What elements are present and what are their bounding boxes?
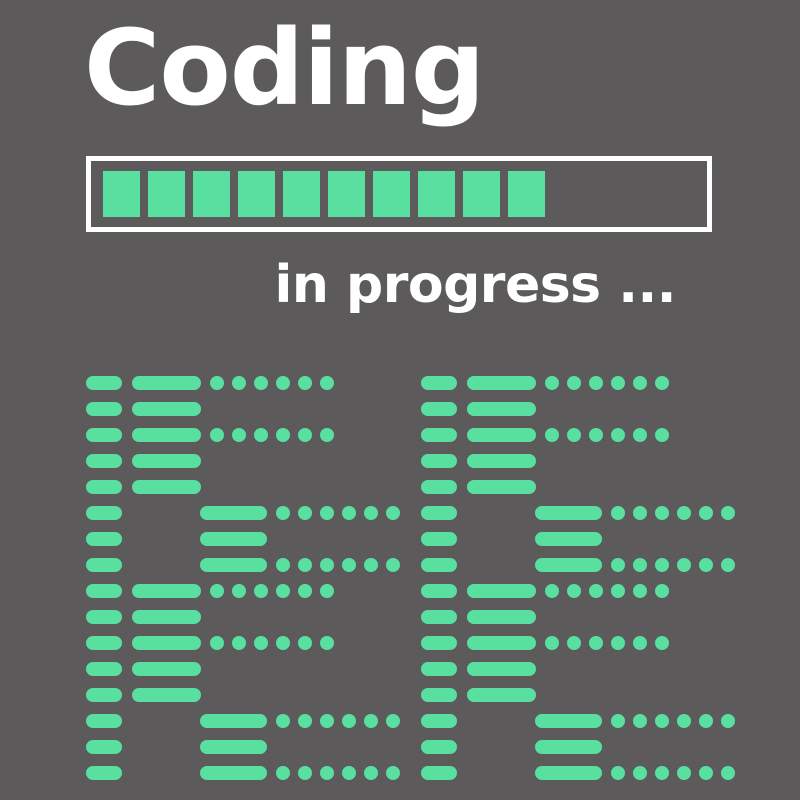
code-token-keyword	[421, 740, 457, 754]
code-dot	[232, 584, 246, 598]
code-dot	[633, 584, 647, 598]
code-token-dots	[276, 714, 400, 728]
code-token-body	[467, 636, 536, 650]
code-dot	[276, 766, 290, 780]
code-dot	[567, 428, 581, 442]
code-dot	[320, 506, 334, 520]
code-dot	[545, 636, 559, 650]
code-token-keyword	[86, 454, 122, 468]
code-dot	[298, 584, 312, 598]
code-dot	[611, 376, 625, 390]
code-dot	[633, 428, 647, 442]
code-dot	[320, 714, 334, 728]
code-dot	[633, 636, 647, 650]
code-token-body	[467, 610, 536, 624]
code-dot	[589, 584, 603, 598]
code-token-keyword	[421, 506, 457, 520]
code-token-body	[467, 584, 536, 598]
code-dot	[721, 558, 735, 572]
code-dot	[655, 506, 669, 520]
code-dot	[342, 714, 356, 728]
code-dot	[254, 584, 268, 598]
code-token-keyword	[86, 402, 122, 416]
code-token-keyword	[421, 454, 457, 468]
code-token-body	[200, 740, 267, 754]
code-token-keyword	[86, 688, 122, 702]
code-dot	[611, 428, 625, 442]
code-dot	[721, 766, 735, 780]
code-token-body	[132, 610, 201, 624]
code-dot	[699, 714, 713, 728]
code-dot	[320, 584, 334, 598]
code-token-body	[535, 532, 602, 546]
code-dot	[232, 428, 246, 442]
code-dot	[254, 636, 268, 650]
code-dot	[210, 636, 224, 650]
code-token-keyword	[421, 402, 457, 416]
code-dot	[655, 428, 669, 442]
code-token-body	[200, 532, 267, 546]
code-dot	[699, 766, 713, 780]
code-dot	[386, 558, 400, 572]
code-token-keyword	[86, 558, 122, 572]
code-token-dots	[611, 714, 735, 728]
code-dot	[633, 506, 647, 520]
code-token-body	[467, 688, 536, 702]
code-dot	[611, 766, 625, 780]
code-token-keyword	[421, 714, 457, 728]
code-dot	[721, 506, 735, 520]
code-token-keyword	[86, 506, 122, 520]
code-token-dots	[276, 506, 400, 520]
code-dot	[655, 714, 669, 728]
code-dot	[611, 636, 625, 650]
code-token-keyword	[421, 584, 457, 598]
code-token-keyword	[421, 766, 457, 780]
code-dot	[567, 636, 581, 650]
code-token-body	[200, 558, 267, 572]
code-token-keyword	[86, 714, 122, 728]
code-token-body	[132, 636, 201, 650]
code-token-body	[132, 428, 201, 442]
code-dot	[276, 584, 290, 598]
code-dot	[677, 506, 691, 520]
code-art	[0, 0, 800, 800]
code-token-keyword	[421, 688, 457, 702]
code-token-keyword	[86, 428, 122, 442]
code-dot	[276, 558, 290, 572]
code-dot	[320, 558, 334, 572]
code-token-body	[132, 402, 201, 416]
code-dot	[364, 506, 378, 520]
code-token-body	[535, 766, 602, 780]
code-dot	[655, 376, 669, 390]
code-token-keyword	[421, 376, 457, 390]
code-token-dots	[611, 558, 735, 572]
code-token-dots	[210, 376, 334, 390]
code-token-body	[132, 480, 201, 494]
code-dot	[298, 766, 312, 780]
code-dot	[298, 636, 312, 650]
code-token-body	[132, 662, 201, 676]
code-dot	[611, 714, 625, 728]
code-token-body	[535, 740, 602, 754]
code-dot	[589, 428, 603, 442]
code-token-body	[467, 662, 536, 676]
code-token-keyword	[421, 610, 457, 624]
code-dot	[210, 376, 224, 390]
code-dot	[545, 584, 559, 598]
code-token-dots	[611, 506, 735, 520]
code-dot	[655, 584, 669, 598]
code-token-keyword	[86, 584, 122, 598]
code-dot	[545, 428, 559, 442]
code-token-dots	[276, 766, 400, 780]
code-token-body	[467, 454, 536, 468]
code-dot	[254, 428, 268, 442]
code-token-body	[535, 506, 602, 520]
code-dot	[364, 714, 378, 728]
code-dot	[611, 584, 625, 598]
code-dot	[364, 766, 378, 780]
code-dot	[567, 376, 581, 390]
code-token-body	[467, 402, 536, 416]
code-dot	[320, 428, 334, 442]
code-token-keyword	[421, 480, 457, 494]
code-token-keyword	[86, 636, 122, 650]
code-token-keyword	[86, 480, 122, 494]
code-dot	[633, 558, 647, 572]
code-token-body	[200, 506, 267, 520]
code-dot	[210, 584, 224, 598]
code-dot	[320, 636, 334, 650]
code-token-dots	[210, 636, 334, 650]
code-dot	[633, 766, 647, 780]
code-dot	[567, 584, 581, 598]
code-token-dots	[210, 428, 334, 442]
code-dot	[677, 714, 691, 728]
code-token-keyword	[86, 610, 122, 624]
code-token-keyword	[86, 376, 122, 390]
code-dot	[276, 636, 290, 650]
code-dot	[276, 428, 290, 442]
code-token-body	[132, 376, 201, 390]
code-token-body	[132, 454, 201, 468]
code-token-keyword	[86, 532, 122, 546]
code-token-keyword	[421, 558, 457, 572]
code-dot	[655, 636, 669, 650]
code-dot	[298, 558, 312, 572]
code-token-body	[200, 714, 267, 728]
code-token-keyword	[86, 662, 122, 676]
code-dot	[589, 636, 603, 650]
code-dot	[210, 428, 224, 442]
code-token-body	[467, 376, 536, 390]
code-token-body	[535, 558, 602, 572]
code-token-keyword	[421, 428, 457, 442]
code-token-body	[132, 584, 201, 598]
code-dot	[386, 766, 400, 780]
code-dot	[232, 636, 246, 650]
code-dot	[655, 558, 669, 572]
code-token-keyword	[86, 766, 122, 780]
code-token-dots	[545, 636, 669, 650]
code-token-body	[467, 428, 536, 442]
code-token-dots	[210, 584, 334, 598]
code-dot	[677, 766, 691, 780]
code-token-dots	[611, 766, 735, 780]
code-token-keyword	[86, 740, 122, 754]
code-dot	[364, 558, 378, 572]
code-dot	[232, 376, 246, 390]
code-dot	[276, 714, 290, 728]
code-token-body	[467, 480, 536, 494]
code-token-keyword	[421, 662, 457, 676]
code-token-body	[200, 766, 267, 780]
code-dot	[276, 506, 290, 520]
code-dot	[655, 766, 669, 780]
code-dot	[699, 558, 713, 572]
code-dot	[298, 714, 312, 728]
code-token-dots	[545, 584, 669, 598]
code-dot	[633, 376, 647, 390]
code-dot	[320, 376, 334, 390]
code-dot	[276, 376, 290, 390]
code-token-keyword	[421, 532, 457, 546]
code-dot	[298, 428, 312, 442]
code-dot	[545, 376, 559, 390]
code-dot	[699, 506, 713, 520]
code-dot	[386, 714, 400, 728]
code-dot	[677, 558, 691, 572]
code-dot	[611, 558, 625, 572]
code-dot	[589, 376, 603, 390]
code-dot	[298, 376, 312, 390]
code-dot	[386, 506, 400, 520]
code-token-dots	[276, 558, 400, 572]
code-dot	[721, 714, 735, 728]
code-dot	[320, 766, 334, 780]
code-token-body	[535, 714, 602, 728]
code-token-dots	[545, 428, 669, 442]
code-token-dots	[545, 376, 669, 390]
code-dot	[298, 506, 312, 520]
code-dot	[342, 766, 356, 780]
code-dot	[342, 558, 356, 572]
code-token-keyword	[421, 636, 457, 650]
code-dot	[633, 714, 647, 728]
code-dot	[611, 506, 625, 520]
poster-canvas: Coding in progress ...	[0, 0, 800, 800]
code-token-body	[132, 688, 201, 702]
code-dot	[342, 506, 356, 520]
code-dot	[254, 376, 268, 390]
